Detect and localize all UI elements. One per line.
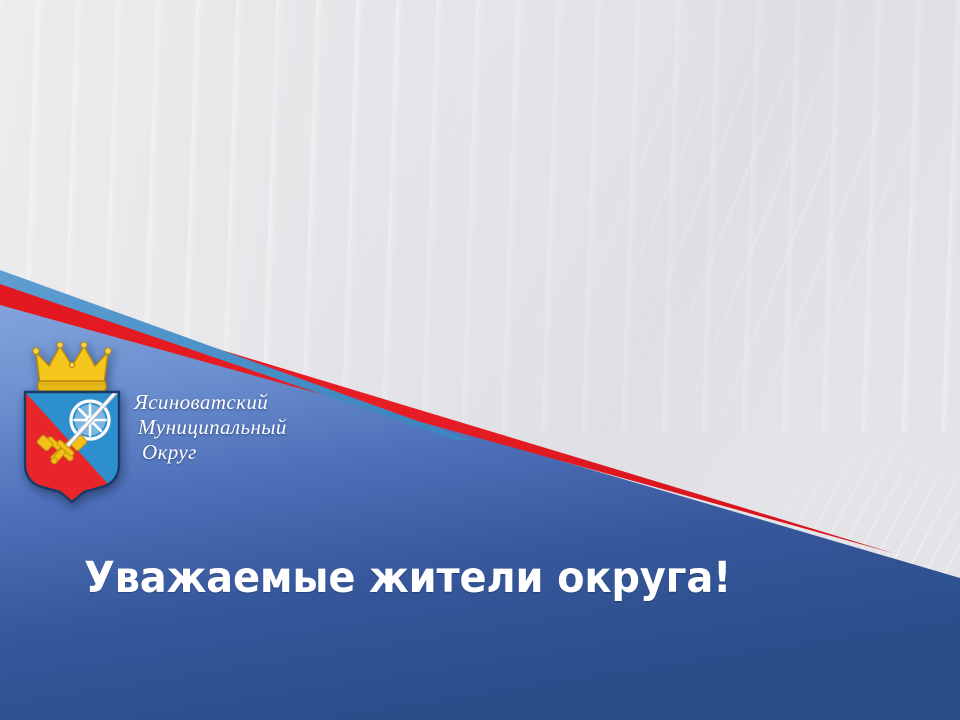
logo-wordmark: Ясиноватский Муниципальный Округ (134, 390, 287, 465)
page-title: Уважаемые жители округа! (84, 553, 731, 603)
wordmark-line-1: Ясиноватский (134, 390, 287, 415)
diagonal-tricolor-banner (0, 0, 960, 720)
banner-blue-field (0, 296, 960, 720)
wordmark-line-3: Округ (134, 440, 287, 465)
slide-canvas: Ясиноватский Муниципальный Округ Уважаем… (0, 0, 960, 720)
wordmark-line-2: Муниципальный (134, 415, 287, 440)
